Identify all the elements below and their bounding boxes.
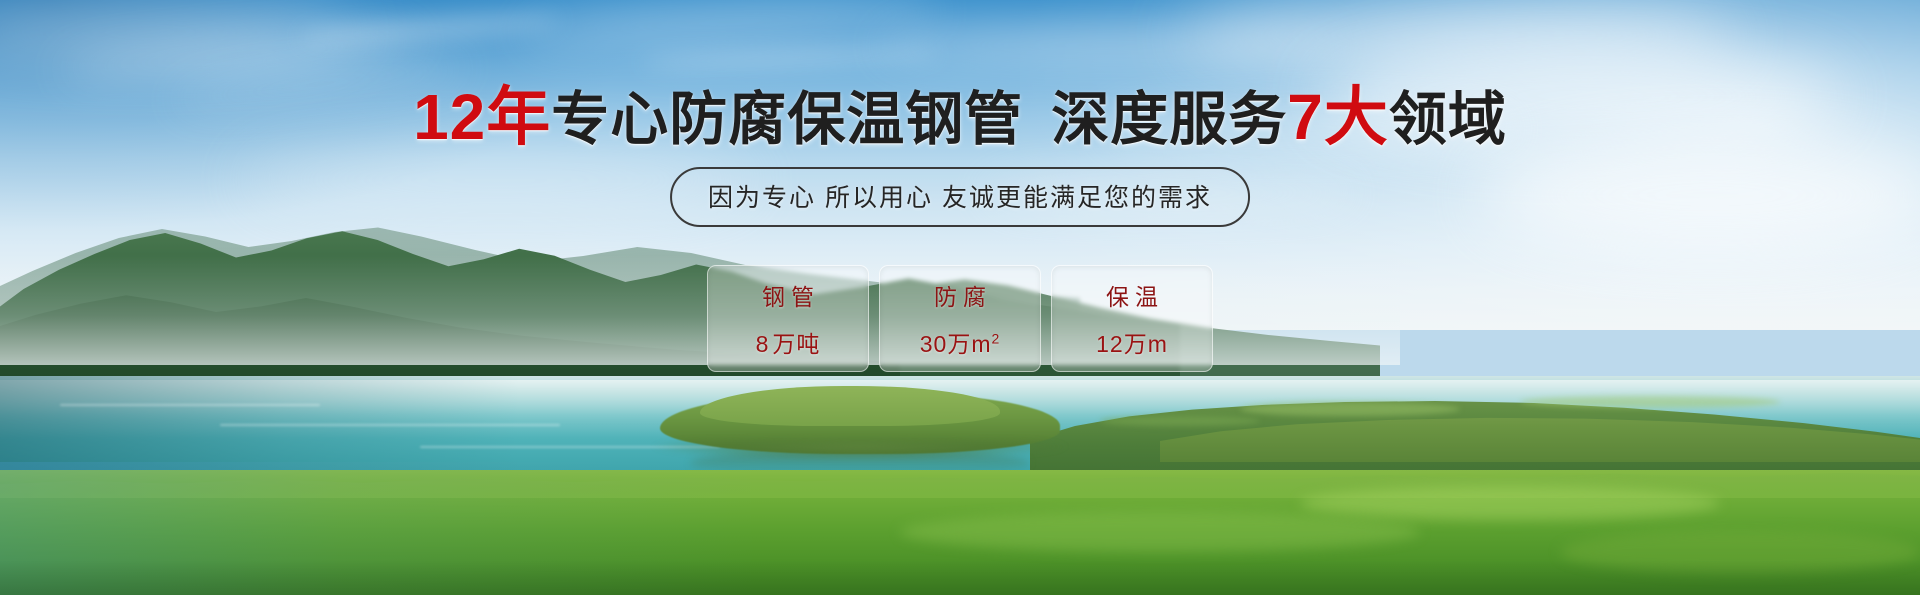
hero-banner: 12年专心防腐保温钢管深度服务7大领域 因为专心 所以用心 友诚更能满足您的需求… <box>0 0 1920 595</box>
stat-card-steel-pipe: 钢管 8万吨 <box>707 265 869 372</box>
stat-card-label: 保温 <box>1100 278 1164 312</box>
island-shoreline <box>650 440 1070 462</box>
stat-card-unit: 万m <box>947 331 991 357</box>
water-ripple <box>60 404 320 406</box>
stat-card-unit: 万m <box>1124 331 1168 357</box>
cloud-icon <box>1480 140 1920 250</box>
wetland-texture <box>1240 402 1460 416</box>
stat-card-unit: 万吨 <box>772 331 820 357</box>
stat-card-number: 30 <box>920 331 948 357</box>
wetland-texture <box>1100 416 1260 426</box>
headline-fields-unit: 大 <box>1324 81 1389 153</box>
headline-segment-2: 深度服务 <box>1051 87 1287 152</box>
stat-card-value: 8万吨 <box>756 325 821 359</box>
stat-card-label: 钢管 <box>756 278 820 312</box>
headline-segment-1: 专心防腐保温钢管 <box>551 87 1023 152</box>
subtitle-text: 因为专心 所以用心 友诚更能满足您的需求 <box>708 184 1212 212</box>
stat-card-label: 防腐 <box>928 278 992 312</box>
grass-bottom-shadow <box>0 560 1920 595</box>
headline-years-number: 12 <box>413 81 486 153</box>
grass-texture <box>1300 486 1720 520</box>
stat-card-value: 30万m2 <box>920 325 1001 359</box>
subtitle-pill: 因为专心 所以用心 友诚更能满足您的需求 <box>670 167 1250 227</box>
wetland-texture <box>1520 396 1780 408</box>
headline-segment-3: 领域 <box>1389 87 1507 152</box>
grass-texture <box>900 512 1420 552</box>
stat-card-number: 12 <box>1096 331 1124 357</box>
stat-card-value: 12万m <box>1096 325 1168 359</box>
headline-years-unit: 年 <box>486 81 551 153</box>
stat-card-anticorrosion: 防腐 30万m2 <box>879 265 1041 372</box>
headline-fields-number: 7 <box>1287 81 1324 153</box>
water-ripple <box>220 424 560 426</box>
stat-card-number: 8 <box>756 331 770 357</box>
stat-card-superscript: 2 <box>991 330 1000 346</box>
stat-card-insulation: 保温 12万m <box>1051 265 1213 372</box>
headline: 12年专心防腐保温钢管深度服务7大领域 <box>0 86 1920 151</box>
stats-card-group: 钢管 8万吨 防腐 30万m2 保温 12万m <box>707 265 1213 372</box>
